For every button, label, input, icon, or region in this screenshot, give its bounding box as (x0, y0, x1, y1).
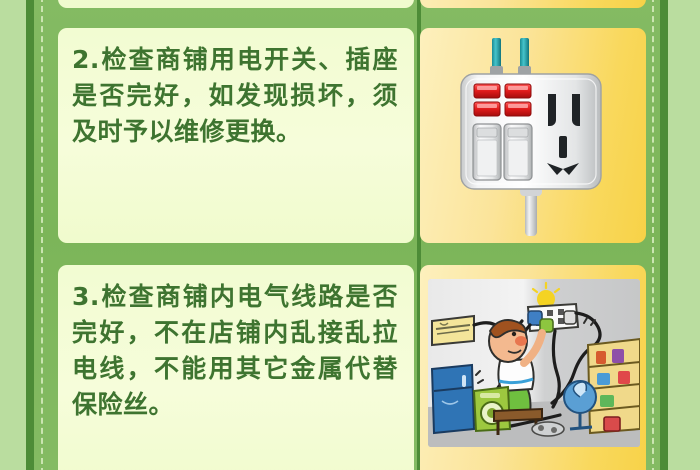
item-2-picture-panel (420, 28, 646, 243)
item-1-picture-panel (420, 0, 646, 8)
infographic-poster: 2.检查商铺用电开关、插座是否完好，如发现损坏，须及时予以维修更换。 (0, 0, 700, 470)
right-dashed-stitch (652, 0, 654, 470)
list-item-3: 3.检查商铺内电气线路是否完好，不在店铺内乱接乱拉电线，不能用其它金属代替保险丝… (58, 265, 646, 470)
item-2-text-panel: 2.检查商铺用电开关、插座是否完好，如发现损坏，须及时予以维修更换。 (58, 28, 414, 243)
messy-wiring-cartoon-illustration-icon (428, 279, 640, 447)
list-item-2: 2.检查商铺用电开关、插座是否完好，如发现损坏，须及时予以维修更换。 (58, 28, 646, 243)
left-dashed-stitch (41, 0, 43, 470)
item-3-picture-panel (420, 265, 646, 470)
blue-refrigerator (432, 365, 474, 433)
item-1-text-panel (58, 0, 414, 8)
air-conditioner (432, 316, 474, 345)
list-item-1 (58, 0, 646, 8)
left-margin-strip (0, 0, 26, 470)
right-rail (660, 0, 668, 470)
item-3-text: 3.检查商铺内电气线路是否完好，不在店铺内乱接乱拉电线，不能用其它金属代替保险丝… (72, 279, 398, 423)
overloaded-power-strip (528, 304, 578, 332)
item-2-text: 2.检查商铺用电开关、插座是否完好，如发现损坏，须及时予以维修更换。 (72, 42, 398, 150)
right-margin-strip (668, 0, 700, 470)
wall-socket-illustration-icon (444, 36, 622, 236)
green-washing-machine (474, 387, 510, 431)
left-rail (26, 0, 34, 470)
item-3-text-panel: 3.检查商铺内电气线路是否完好，不在店铺内乱接乱拉电线，不能用其它金属代替保险丝… (58, 265, 414, 470)
